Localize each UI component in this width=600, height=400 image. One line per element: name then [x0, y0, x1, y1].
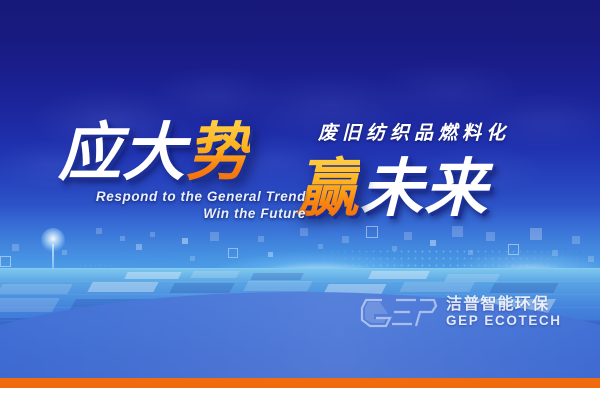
light-beacon-icon	[41, 228, 65, 252]
floor-tile	[190, 271, 239, 278]
floor-tile	[399, 282, 474, 292]
headline-line-2: 赢未来	[296, 158, 488, 221]
floor-tile	[444, 274, 500, 282]
kicker-text: 废旧纺织品燃料化	[318, 118, 510, 145]
floor-tile	[489, 283, 558, 293]
logo-text: 洁普智能环保 GEP ECOTECH	[446, 297, 562, 328]
floor-tile	[368, 271, 430, 279]
subtitle-line-1: Respond to the General Trend	[80, 188, 306, 205]
gep-logo-icon	[360, 296, 438, 330]
headline-line-1: 应大势	[58, 122, 250, 185]
floor-tile	[169, 283, 234, 293]
promo-banner: 废旧纺织品燃料化 应大势 赢未来 Respond to the General …	[0, 0, 600, 400]
headline-segment-white: 未来	[360, 154, 488, 224]
brand-logo: 洁普智能环保 GEP ECOTECH	[360, 296, 562, 330]
subtitle-line-2: Win the Future	[80, 205, 306, 222]
logo-name-cn: 洁普智能环保	[446, 297, 562, 314]
logo-name-en: GEP ECOTECH	[446, 314, 562, 328]
floor-tile	[0, 298, 60, 312]
subtitle-english: Respond to the General Trend Win the Fut…	[80, 188, 306, 223]
floor-tile	[124, 272, 181, 279]
floor-tile	[250, 273, 303, 280]
floating-square	[96, 228, 102, 234]
floating-square	[62, 250, 67, 255]
floor-tile	[0, 284, 73, 294]
headline-segment-white: 应大	[58, 118, 186, 188]
floor-tile	[87, 282, 158, 292]
floating-square	[12, 244, 19, 251]
floor-tile	[243, 281, 312, 291]
headline-segment-orange: 势	[186, 118, 250, 188]
